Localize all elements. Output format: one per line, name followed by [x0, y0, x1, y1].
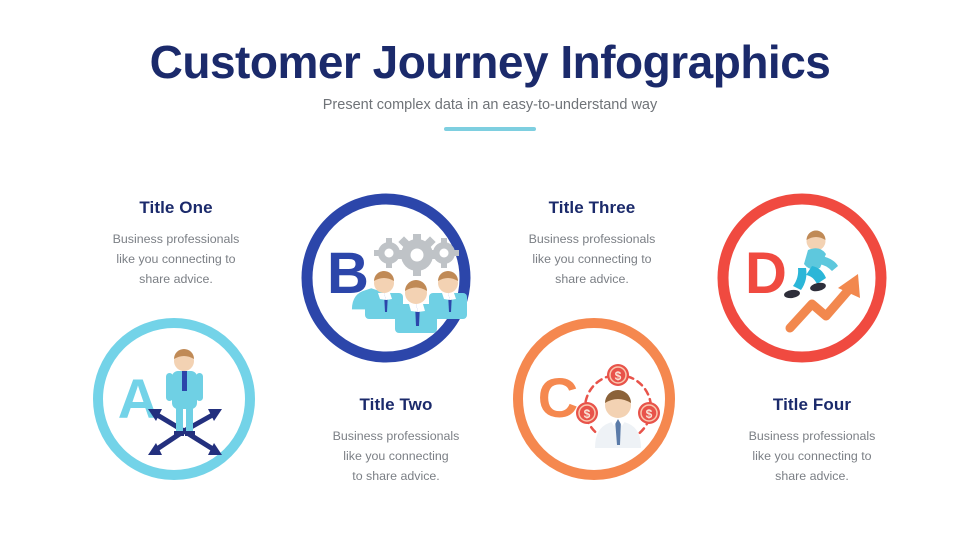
climber-arm	[819, 256, 838, 271]
step-three-body: Business professionals like you connecti…	[484, 229, 700, 289]
step-circle-a[interactable]: A	[88, 313, 260, 485]
infographic-slide: Customer Journey Infographics Present co…	[0, 0, 980, 551]
step-text-four: Title Four Business professionals like y…	[704, 395, 920, 486]
svg-text:$: $	[615, 369, 622, 383]
step-two-body-line-1: Business professionals	[288, 426, 504, 446]
climber-leg-back	[793, 268, 806, 290]
team-gears-icon	[352, 234, 467, 333]
step-four-body-line-2: like you connecting to	[704, 446, 920, 466]
step-four-body: Business professionals like you connecti…	[704, 426, 920, 486]
coin-right: $	[638, 402, 660, 424]
step-two-body: Business professionals like you connecti…	[288, 426, 504, 486]
page-subtitle: Present complex data in an easy-to-under…	[0, 97, 980, 113]
businessman-money-coins-icon: $ $ $	[576, 364, 660, 448]
circle-a-graphic: A	[88, 313, 260, 485]
person-climbing-growth-arrow-icon	[784, 231, 860, 329]
step-one-body-line-3: share advice.	[68, 269, 284, 289]
svg-text:$: $	[646, 407, 653, 421]
climber-leg-front	[806, 266, 826, 284]
step-two-body-line-3: to share advice.	[288, 466, 504, 486]
person-four-direction-arrows-icon	[148, 349, 222, 455]
step-four-title: Title Four	[704, 395, 920, 415]
step-three-title: Title Three	[484, 198, 700, 218]
circle-a-letter: A	[118, 367, 158, 430]
coin-top: $	[607, 364, 629, 386]
step-circle-c[interactable]: C $ $ $	[508, 313, 680, 485]
circle-d-graphic: D	[712, 188, 892, 368]
coin-left: $	[576, 402, 598, 424]
step-four-body-line-3: share advice.	[704, 466, 920, 486]
step-one-body: Business professionals like you connecti…	[68, 229, 284, 289]
step-two-title: Title Two	[288, 395, 504, 415]
step-circle-b[interactable]: B	[296, 188, 476, 368]
circle-b-graphic: B	[296, 188, 476, 368]
step-three-body-line-1: Business professionals	[484, 229, 700, 249]
step-text-two: Title Two Business professionals like yo…	[288, 395, 504, 486]
header: Customer Journey Infographics Present co…	[0, 38, 980, 131]
step-three-body-line-3: share advice.	[484, 269, 700, 289]
step-one-body-line-1: Business professionals	[68, 229, 284, 249]
circle-c-letter: C	[538, 366, 578, 429]
person-leg-right	[186, 406, 193, 434]
step-one-title: Title One	[68, 198, 284, 218]
step-one-body-line-2: like you connecting to	[68, 249, 284, 269]
step-two-body-line-2: like you connecting	[288, 446, 504, 466]
step-circle-d[interactable]: D	[712, 188, 892, 368]
page-title: Customer Journey Infographics	[0, 38, 980, 86]
title-divider	[444, 127, 536, 131]
step-text-one: Title One Business professionals like yo…	[68, 198, 284, 289]
circle-d-letter: D	[745, 241, 787, 306]
circle-c-graphic: C $ $ $	[508, 313, 680, 485]
step-three-body-line-2: like you connecting to	[484, 249, 700, 269]
svg-text:$: $	[584, 407, 591, 421]
step-four-body-line-1: Business professionals	[704, 426, 920, 446]
step-text-three: Title Three Business professionals like …	[484, 198, 700, 289]
person-leg-left	[176, 406, 183, 434]
